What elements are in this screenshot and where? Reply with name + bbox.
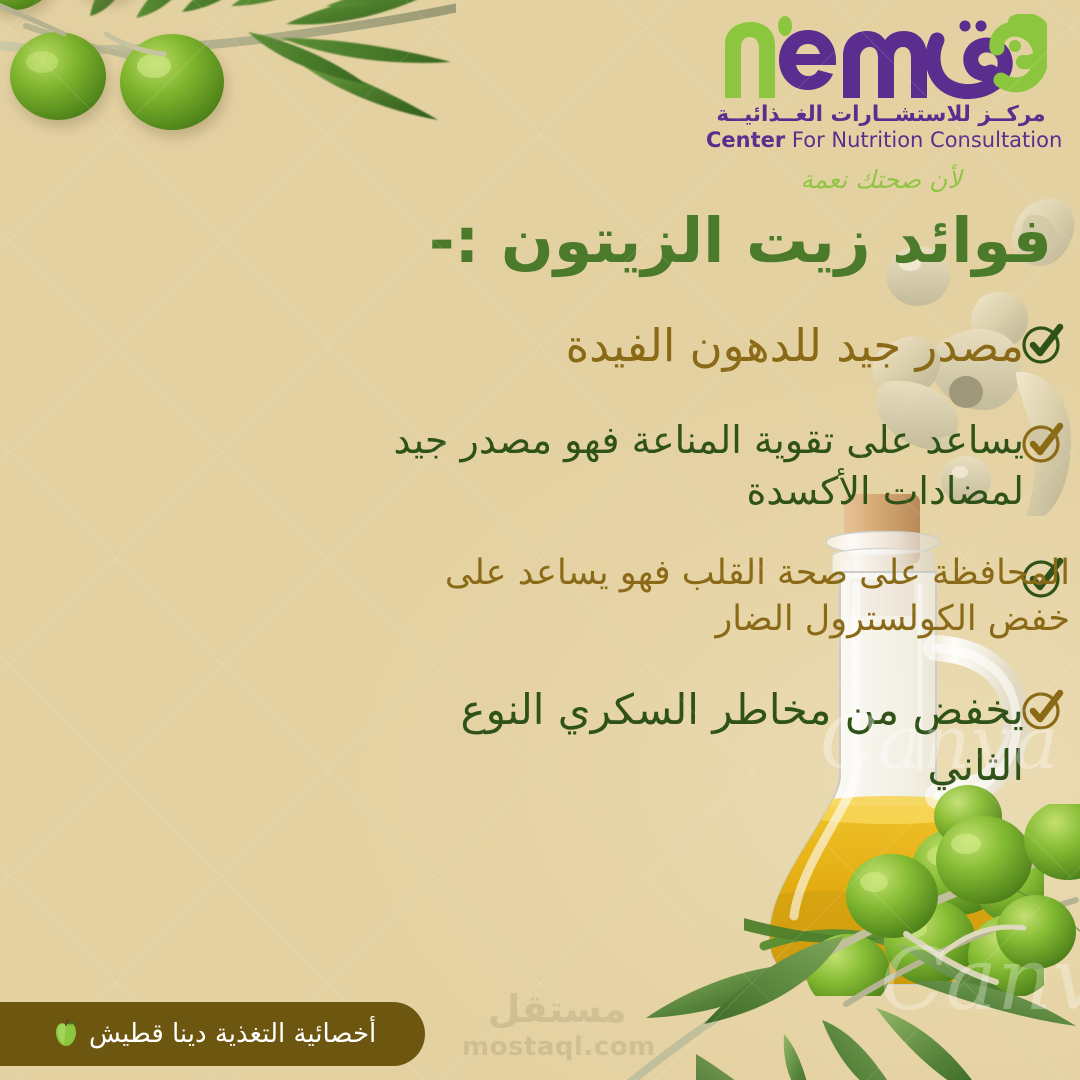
green-apple-icon — [53, 1019, 79, 1047]
list-item: مصدر جيد للدهون الفيدة — [366, 316, 1066, 375]
benefits-list: مصدر جيد للدهون الفيدة يساعد على تقوية ا… — [366, 316, 1066, 815]
brand-logo: مركــز للاستشــارات الغــذائيــة Center … — [706, 14, 1056, 194]
page-title: فوائد زيت الزيتون :- — [392, 206, 1052, 275]
benefit-text: يساعد على تقوية المناعة فهو مصدر جيد لمض… — [366, 415, 1024, 515]
circled-check-icon — [1020, 686, 1066, 732]
logo-english-rest: For Nutrition Consultation — [785, 128, 1062, 152]
benefit-text: المحافظة على صحة القلب فهو يساعد على خفض… — [366, 550, 1070, 642]
list-item: المحافظة على صحة القلب فهو يساعد على خفض… — [366, 550, 1066, 642]
footer-name-text: أخصائية التغذية دينا قطيش — [89, 1019, 376, 1049]
footer-bar: أخصائية التغذية دينا قطيش — [0, 1002, 425, 1066]
list-item: يساعد على تقوية المناعة فهو مصدر جيد لمض… — [366, 415, 1066, 515]
poster-canvas: مركــز للاستشــارات الغــذائيــة Center … — [0, 0, 1080, 1080]
nema-wordmark-icon — [715, 14, 1047, 102]
footer-label: أخصائية التغذية دينا قطيش — [49, 1019, 377, 1049]
logo-english-subtitle: Center For Nutrition Consultation — [706, 128, 1056, 153]
logo-tagline: لأن صحتك نعمة — [706, 165, 1056, 194]
list-item: يخفض من مخاطر السكري النوع الثاني — [366, 682, 1066, 793]
benefit-text: يخفض من مخاطر السكري النوع الثاني — [366, 682, 1024, 793]
logo-english-bold: Center — [706, 128, 785, 152]
logo-arabic-subtitle: مركــز للاستشــارات الغــذائيــة — [706, 104, 1056, 127]
benefit-text: مصدر جيد للدهون الفيدة — [366, 316, 1024, 375]
circled-check-icon — [1020, 320, 1066, 366]
circled-check-icon — [1020, 419, 1066, 465]
